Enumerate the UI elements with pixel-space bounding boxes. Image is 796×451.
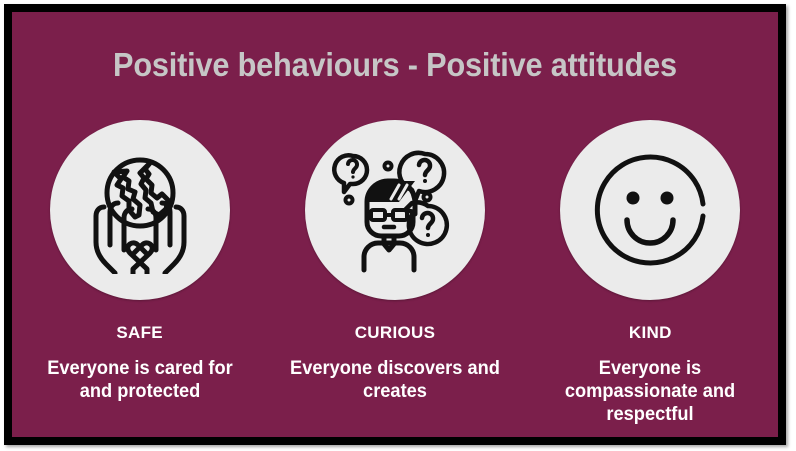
value-card-curious: CURIOUS Everyone discovers and creates bbox=[275, 120, 515, 403]
value-description-curious: Everyone discovers and creates bbox=[285, 357, 506, 403]
icon-badge-kind bbox=[560, 120, 740, 300]
hands-holding-globe-icon bbox=[76, 146, 204, 274]
value-description-safe: Everyone is cared for and protected bbox=[29, 357, 250, 403]
curious-person-question-bubbles-icon bbox=[329, 144, 461, 276]
icon-badge-curious bbox=[305, 120, 485, 300]
icon-badge-safe bbox=[50, 120, 230, 300]
value-description-kind: Everyone is compassionate and respectful bbox=[540, 357, 761, 426]
value-heading-safe: SAFE bbox=[116, 323, 163, 343]
smiley-face-icon bbox=[587, 147, 713, 273]
value-heading-kind: KIND bbox=[629, 323, 672, 343]
value-card-kind: KIND Everyone is compassionate and respe… bbox=[530, 120, 770, 426]
page-title: Positive behaviours - Positive attitudes bbox=[39, 44, 751, 86]
slide-frame: Positive behaviours - Positive attitudes bbox=[4, 4, 786, 445]
values-row: SAFE Everyone is cared for and protected bbox=[12, 120, 778, 426]
value-card-safe: SAFE Everyone is cared for and protected bbox=[20, 120, 260, 403]
slide-canvas: Positive behaviours - Positive attitudes bbox=[12, 12, 778, 437]
value-heading-curious: CURIOUS bbox=[355, 323, 436, 343]
